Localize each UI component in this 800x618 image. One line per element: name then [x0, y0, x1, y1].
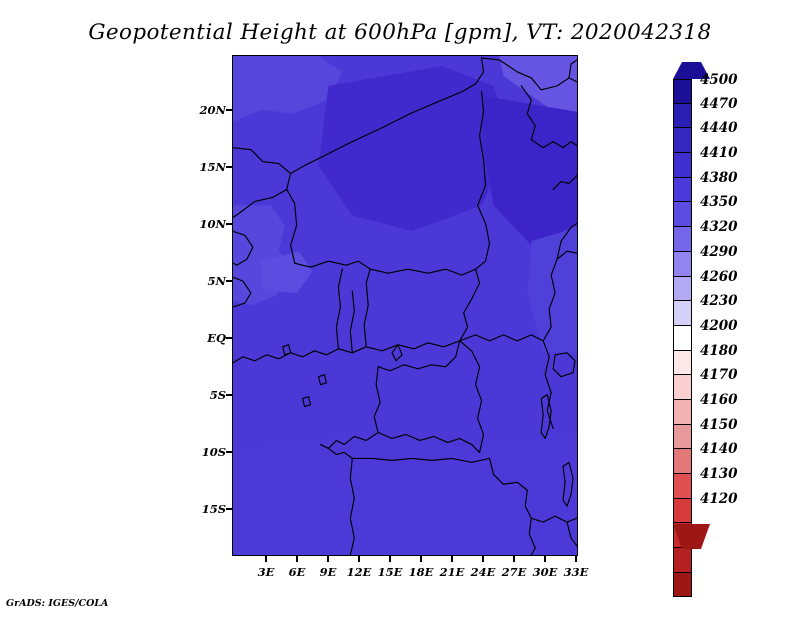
y-tick-mark-eq [226, 337, 232, 339]
colorbar-tick-label: 4170 [700, 367, 738, 383]
colorbar-tick-label: 4470 [700, 96, 738, 112]
x-tick-mark-9e [327, 556, 329, 562]
colorbar-tick-label: 4260 [700, 269, 738, 285]
y-tick-mark-15s [226, 508, 232, 510]
x-tick-label-3e: 3E [258, 565, 275, 579]
colorbar-tick-label: 4500 [700, 72, 738, 88]
field-band-south [233, 432, 577, 555]
colorbar-tick-label: 4200 [700, 318, 738, 334]
y-tick-mark-10n [226, 223, 232, 225]
y-tick-label-10n: 10N [196, 217, 226, 231]
colorbar-band: 4230 [673, 301, 692, 326]
x-tick-mark-15e [389, 556, 391, 562]
x-tick-label-24e: 24E [471, 565, 496, 579]
map-plot-area [232, 55, 578, 556]
x-tick-label-27e: 27E [502, 565, 527, 579]
colorbar-tick-label: 4230 [700, 293, 738, 309]
x-tick-mark-21e [451, 556, 453, 562]
y-tick-label-eq: EQ [196, 331, 226, 345]
x-tick-label-30e: 30E [533, 565, 558, 579]
y-tick-label-10s: 10S [196, 445, 226, 459]
colorbar-under-arrow [673, 524, 710, 549]
x-tick-mark-33e [575, 556, 577, 562]
y-tick-label-5n: 5N [196, 274, 226, 288]
colorbar-tick-label: 4160 [700, 392, 738, 408]
page-title: Geopotential Height at 600hPa [gpm], VT:… [0, 20, 800, 45]
x-tick-label-18e: 18E [409, 565, 434, 579]
x-tick-label-21e: 21E [440, 565, 465, 579]
x-tick-mark-24e [482, 556, 484, 562]
colorbar-tick-label: 4150 [700, 417, 738, 433]
colorbar-band: 4470 [673, 104, 692, 129]
y-tick-mark-10s [226, 451, 232, 453]
colorbar-tick-label: 4440 [700, 120, 738, 136]
y-tick-label-5s: 5S [196, 388, 226, 402]
colorbar-tick-label: 4140 [700, 441, 738, 457]
x-tick-mark-3e [265, 556, 267, 562]
colorbar-band: 4350 [673, 202, 692, 227]
colorbar-band: 4160 [673, 400, 692, 425]
colorbar-tick-label: 4320 [700, 219, 738, 235]
y-tick-label-15s: 15S [196, 502, 226, 516]
map-canvas [233, 56, 577, 555]
y-tick-mark-20n [226, 109, 232, 111]
colorbar-band: 4410 [673, 153, 692, 178]
y-tick-mark-5s [226, 394, 232, 396]
x-tick-label-9e: 9E [320, 565, 337, 579]
x-tick-mark-6e [296, 556, 298, 562]
footer-credit: GrADS: IGES/COLA [6, 598, 108, 609]
grads-plot-window: Geopotential Height at 600hPa [gpm], VT:… [0, 0, 800, 618]
x-tick-label-6e: 6E [289, 565, 306, 579]
colorbar-band: 4170 [673, 375, 692, 400]
colorbar-tick-label: 4180 [700, 343, 738, 359]
colorbar-band: 4150 [673, 425, 692, 450]
colorbar-tick-label: 4380 [700, 170, 738, 186]
colorbar-tick-label: 4120 [700, 491, 738, 507]
y-tick-mark-5n [226, 280, 232, 282]
x-tick-label-12e: 12E [347, 565, 372, 579]
x-tick-label-33e: 33E [564, 565, 589, 579]
colorbar-band: 4120 [673, 499, 692, 524]
y-tick-label-20n: 20N [196, 103, 226, 117]
colorbar-band: 4440 [673, 128, 692, 153]
x-tick-mark-12e [358, 556, 360, 562]
colorbar-band: 4500 [673, 79, 692, 104]
colorbar-band: 4290 [673, 252, 692, 277]
x-tick-mark-18e [420, 556, 422, 562]
x-tick-label-15e: 15E [378, 565, 403, 579]
y-tick-mark-15n [226, 166, 232, 168]
colorbar-band: 4380 [673, 178, 692, 203]
colorbar-tick-label: 4410 [700, 145, 738, 161]
colorbar-band: 4140 [673, 449, 692, 474]
colorbar-band: 4130 [673, 474, 692, 499]
y-tick-label-15n: 15N [196, 160, 226, 174]
colorbar-band: 4200 [673, 326, 692, 351]
colorbar-band: 4260 [673, 277, 692, 302]
colorbar-tick-label: 4350 [700, 194, 738, 210]
colorbar[interactable]: 4500447044404410438043504320429042604230… [673, 79, 692, 597]
colorbar-band [673, 548, 692, 573]
colorbar-tick-label: 4130 [700, 466, 738, 482]
x-tick-mark-27e [513, 556, 515, 562]
colorbar-band: 4180 [673, 351, 692, 376]
colorbar-band [673, 573, 692, 598]
colorbar-band: 4320 [673, 227, 692, 252]
colorbar-tick-label: 4290 [700, 244, 738, 260]
x-tick-mark-30e [544, 556, 546, 562]
